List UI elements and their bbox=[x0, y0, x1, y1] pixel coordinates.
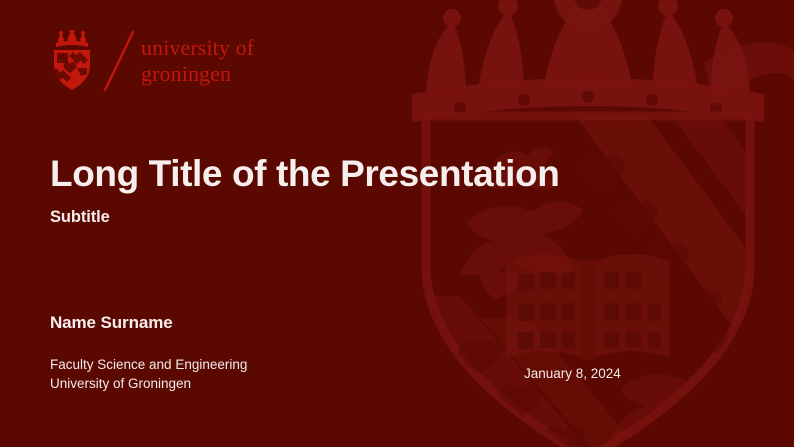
affiliation-university: University of Groningen bbox=[50, 374, 247, 393]
diagonal-slash-icon bbox=[101, 28, 139, 94]
wordmark-line-2: groningen bbox=[141, 61, 254, 87]
presentation-subtitle: Subtitle bbox=[50, 208, 559, 227]
university-wordmark: university of groningen bbox=[141, 35, 254, 86]
presentation-title: Long Title of the Presentation bbox=[50, 155, 559, 194]
wordmark-line-1: university of bbox=[141, 35, 254, 61]
affiliation-block: Faculty Science and Engineering Universi… bbox=[50, 355, 247, 393]
author-block: Name Surname Faculty Science and Enginee… bbox=[50, 313, 247, 393]
university-logo-lockup[interactable]: university of groningen bbox=[47, 30, 254, 92]
headline-block: Long Title of the Presentation Subtitle bbox=[50, 155, 559, 227]
presentation-title-slide: university of groningen Long Title of th… bbox=[0, 0, 794, 447]
author-name: Name Surname bbox=[50, 313, 247, 333]
university-crest-icon bbox=[47, 30, 97, 92]
affiliation-faculty: Faculty Science and Engineering bbox=[50, 355, 247, 374]
presentation-date: January 8, 2024 bbox=[524, 366, 621, 381]
